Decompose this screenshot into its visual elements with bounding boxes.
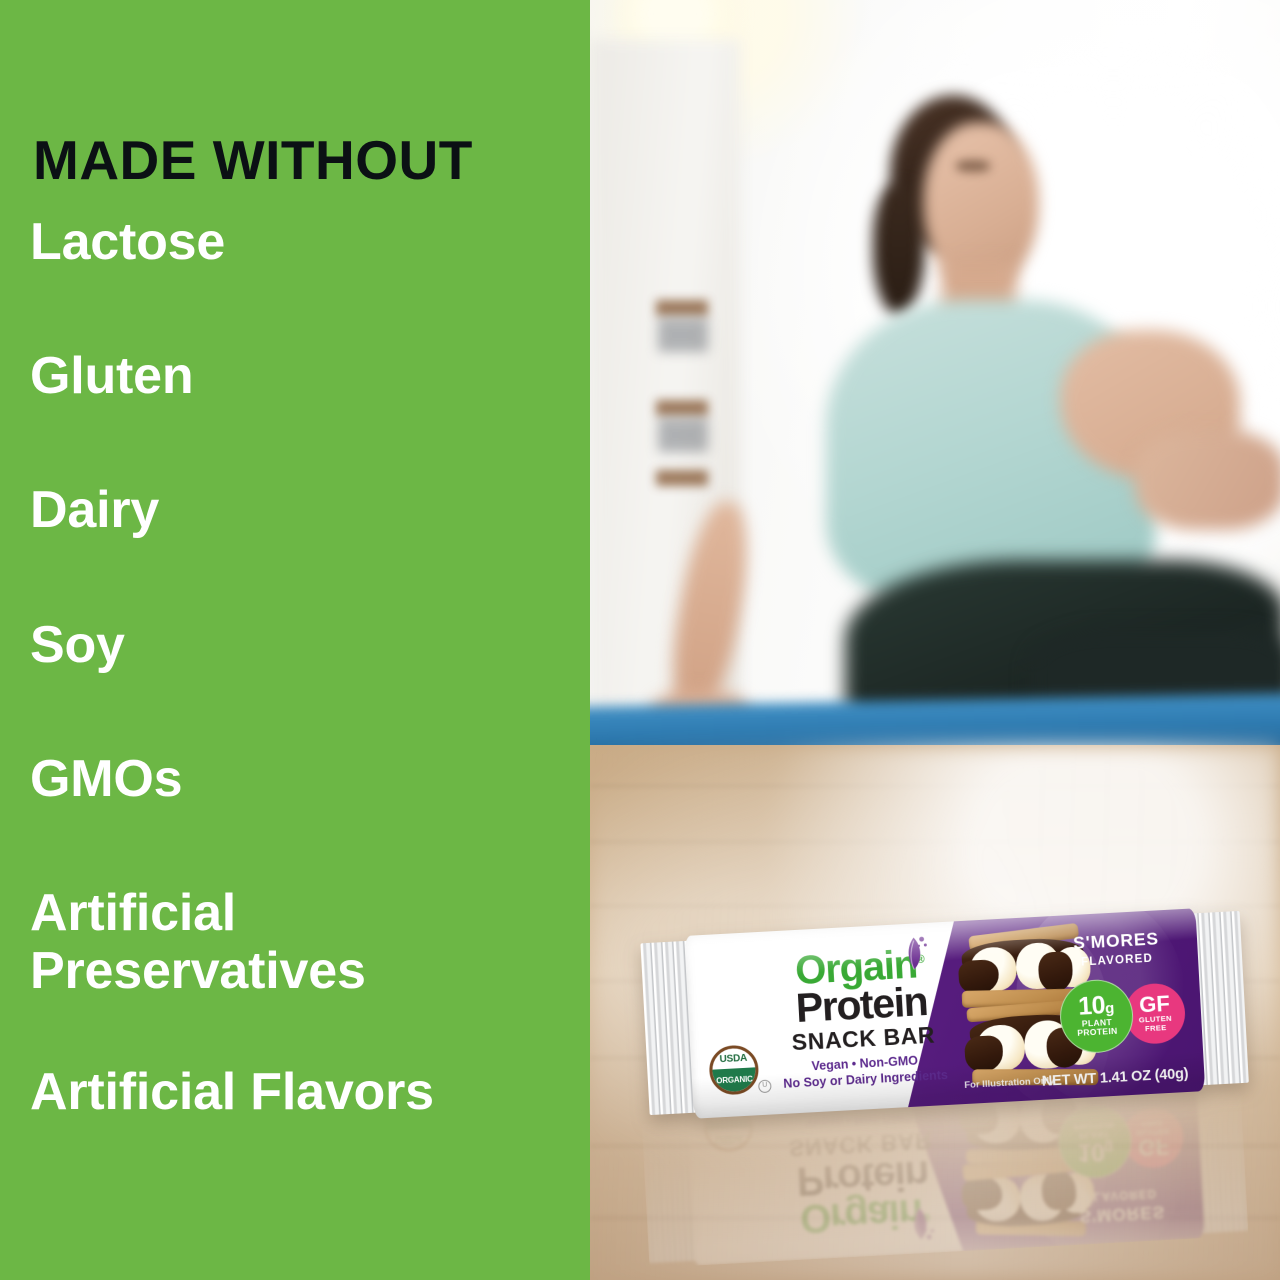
list-item: GMOs: [30, 750, 570, 808]
list-item: Gluten: [30, 347, 570, 405]
leaf-icon: [896, 935, 928, 973]
wall-shelf: [656, 400, 708, 416]
shelf-contents: [658, 418, 708, 452]
protein-badge-line-2: PROTEIN: [1077, 1027, 1118, 1039]
usda-seal-top-text: USDA: [711, 1047, 755, 1069]
flavor-block: S'MORES FLAVORED: [1053, 929, 1181, 969]
protein-badge-value: 10g: [1078, 994, 1115, 1020]
gluten-free-badge-value: GF: [1139, 993, 1171, 1017]
usda-organic-seal: USDA ORGANIC: [708, 1044, 760, 1096]
wall-shelf: [656, 300, 708, 316]
product-marketing-image: MADE WITHOUT Lactose Gluten Dairy Soy GM…: [0, 0, 1280, 1280]
without-ingredients-list: Lactose Gluten Dairy Soy GMOs Artificial…: [30, 213, 570, 1121]
package-front: Orgain® Protein SNACK BAR Vegan • Non-GM…: [684, 908, 1205, 1118]
made-without-panel: MADE WITHOUT Lactose Gluten Dairy Soy GM…: [0, 0, 590, 1280]
usda-seal-bottom-text: ORGANIC: [712, 1068, 756, 1093]
list-item: Soy: [30, 616, 570, 674]
list-item: Artificial Preservatives: [30, 884, 460, 1000]
shelf-contents: [658, 318, 708, 352]
woman-forearm: [1135, 430, 1280, 530]
gluten-free-badge-line-2: FREE: [1145, 1024, 1167, 1034]
wall-shelf: [656, 470, 708, 486]
page-title: MADE WITHOUT: [33, 133, 473, 188]
list-item: Artificial Flavors: [30, 1063, 570, 1121]
woman-eyebrow: [956, 160, 990, 172]
list-item: Lactose: [30, 213, 570, 271]
product-package: Orgain® Protein SNACK BAR Vegan • Non-GM…: [640, 906, 1250, 1133]
brand-block: Orgain® Protein SNACK BAR Vegan • Non-GM…: [751, 943, 973, 1094]
list-item: Dairy: [30, 481, 570, 539]
